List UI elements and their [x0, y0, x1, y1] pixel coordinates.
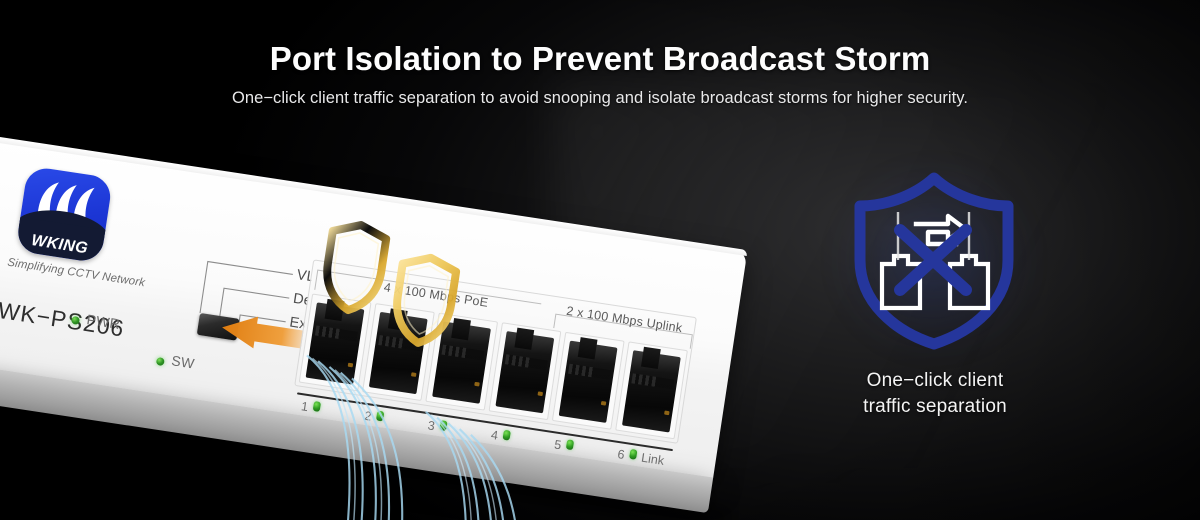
rj45-port-4[interactable]: [489, 322, 562, 420]
feature-caption-line-1: One−click client: [800, 368, 1070, 394]
shield-port-isolation-icon: [838, 168, 1030, 350]
rj45-port-5[interactable]: [552, 332, 625, 430]
promo-banner: Port Isolation to Prevent Broadcast Stor…: [0, 0, 1200, 520]
sw-led-label: SW: [170, 352, 195, 371]
page-title: Port Isolation to Prevent Broadcast Stor…: [0, 40, 1200, 78]
feature-caption-line-2: traffic separation: [800, 394, 1070, 420]
feature-caption: One−click client traffic separation: [800, 368, 1070, 419]
page-subtitle: One−click client traffic separation to a…: [0, 89, 1200, 108]
logo-mark-icon: WKING: [15, 166, 113, 264]
